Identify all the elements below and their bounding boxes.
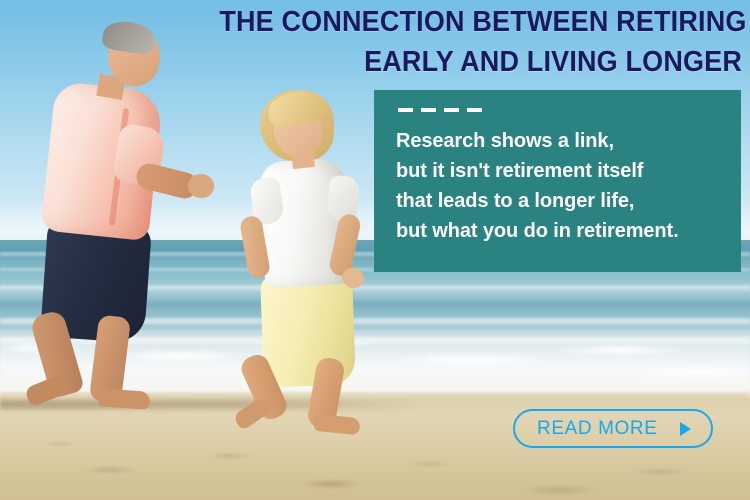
dash-mark xyxy=(421,108,436,112)
promo-banner: THE CONNECTION BETWEEN RETIRING EARLY AN… xyxy=(0,0,750,500)
callout-box: Research shows a link, but it isn't reti… xyxy=(374,90,741,272)
headline: THE CONNECTION BETWEEN RETIRING EARLY AN… xyxy=(219,2,742,82)
callout-line-3: that leads to a longer life, xyxy=(396,186,719,216)
woman-walking xyxy=(236,86,396,406)
dash-divider xyxy=(398,108,719,112)
man-walking xyxy=(20,16,220,416)
read-more-label: READ MORE xyxy=(537,418,657,440)
dash-mark xyxy=(398,108,413,112)
read-more-button[interactable]: READ MORE xyxy=(513,409,713,448)
man-foot-front xyxy=(97,388,150,410)
callout-text: Research shows a link, but it isn't reti… xyxy=(396,126,719,246)
callout-line-2: but it isn't retirement itself xyxy=(396,156,719,186)
dash-mark xyxy=(467,108,482,112)
callout-line-4: but what you do in retirement. xyxy=(396,216,719,246)
dash-mark xyxy=(444,108,459,112)
callout-line-1: Research shows a link, xyxy=(396,126,719,156)
headline-line-1: THE CONNECTION BETWEEN RETIRING xyxy=(219,2,742,42)
play-triangle-right-icon xyxy=(680,422,691,436)
headline-line-2: EARLY AND LIVING LONGER xyxy=(219,42,742,82)
